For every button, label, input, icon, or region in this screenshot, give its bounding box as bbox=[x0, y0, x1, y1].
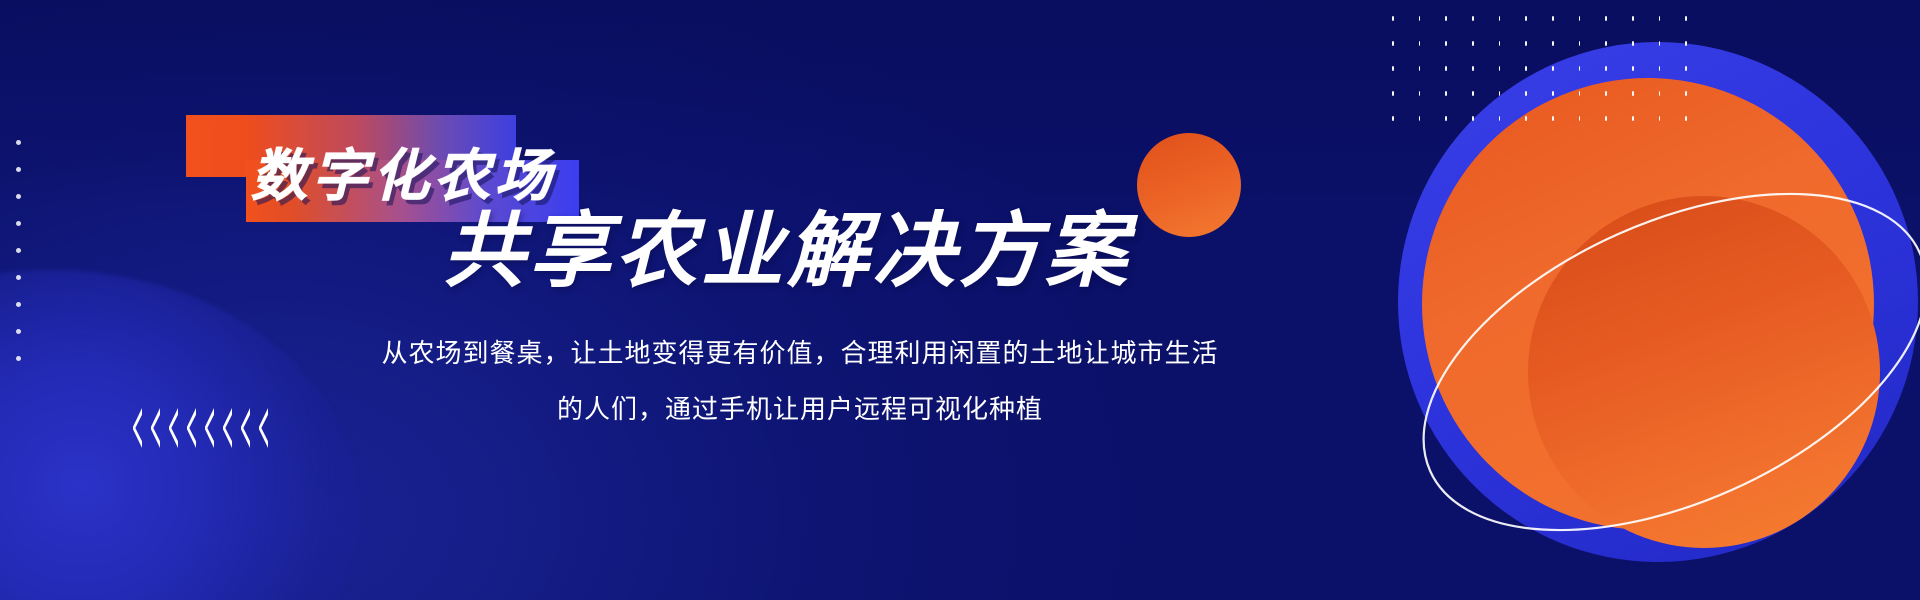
dot-grid-decoration bbox=[1392, 14, 1712, 134]
dot-icon bbox=[1659, 116, 1661, 121]
dot-grid-row bbox=[1392, 14, 1712, 39]
orange-circle-small-decoration bbox=[1137, 133, 1241, 237]
dot-icon bbox=[1579, 41, 1581, 46]
dot-icon bbox=[1472, 16, 1474, 21]
chevron-left-icon bbox=[205, 408, 214, 448]
dot-icon bbox=[1472, 66, 1474, 71]
dot-icon bbox=[1552, 41, 1554, 46]
dot-icon bbox=[1632, 41, 1634, 46]
dot-icon bbox=[1552, 91, 1554, 96]
dot-icon bbox=[16, 275, 21, 280]
dot-icon bbox=[1499, 91, 1501, 96]
dot-icon bbox=[1685, 91, 1687, 96]
dot-grid-row bbox=[1392, 64, 1712, 89]
dot-icon bbox=[1525, 41, 1527, 46]
dot-icon bbox=[1605, 41, 1607, 46]
dot-grid-row bbox=[1392, 89, 1712, 114]
dot-icon bbox=[16, 194, 21, 199]
dot-icon bbox=[1392, 41, 1394, 46]
dot-icon bbox=[1605, 66, 1607, 71]
dot-icon bbox=[1445, 41, 1447, 46]
dot-icon bbox=[1659, 41, 1661, 46]
dot-icon bbox=[1632, 91, 1634, 96]
dot-icon bbox=[1392, 66, 1394, 71]
dot-icon bbox=[16, 248, 21, 253]
dot-icon bbox=[1392, 16, 1394, 21]
dot-icon bbox=[1552, 116, 1554, 121]
dot-icon bbox=[1525, 16, 1527, 21]
dot-icon bbox=[1579, 16, 1581, 21]
dot-icon bbox=[1445, 16, 1447, 21]
chevron-left-icon bbox=[133, 408, 142, 448]
dot-icon bbox=[1499, 16, 1501, 21]
dot-icon bbox=[1685, 66, 1687, 71]
dot-icon bbox=[1605, 16, 1607, 21]
dot-icon bbox=[1525, 91, 1527, 96]
dot-icon bbox=[1525, 66, 1527, 71]
dot-icon bbox=[1605, 116, 1607, 121]
dot-icon bbox=[1579, 91, 1581, 96]
chevron-left-icon bbox=[151, 408, 160, 448]
dot-icon bbox=[1419, 91, 1421, 96]
dot-icon bbox=[1605, 91, 1607, 96]
dot-grid-row bbox=[1392, 39, 1712, 64]
dot-icon bbox=[1685, 41, 1687, 46]
dot-icon bbox=[1392, 91, 1394, 96]
left-dot-column-decoration bbox=[16, 140, 24, 383]
dot-icon bbox=[1632, 116, 1634, 121]
dot-icon bbox=[1552, 66, 1554, 71]
dot-icon bbox=[1632, 66, 1634, 71]
dot-icon bbox=[1659, 91, 1661, 96]
dot-icon bbox=[1445, 116, 1447, 121]
dot-icon bbox=[1419, 16, 1421, 21]
chevron-left-icon bbox=[223, 408, 232, 448]
orange-circle-medium-decoration bbox=[1528, 196, 1880, 548]
dot-icon bbox=[1632, 16, 1634, 21]
chevron-arrows-decoration bbox=[133, 408, 277, 448]
dot-grid-row bbox=[1392, 114, 1712, 139]
dot-icon bbox=[1579, 66, 1581, 71]
dot-icon bbox=[16, 329, 21, 334]
dot-icon bbox=[1659, 16, 1661, 21]
dot-icon bbox=[16, 167, 21, 172]
subtitle-line-1: 从农场到餐桌，让土地变得更有价值，合理利用闲置的土地让城市生活 bbox=[300, 325, 1300, 381]
dot-icon bbox=[1499, 116, 1501, 121]
chevron-left-icon bbox=[169, 408, 178, 448]
dot-icon bbox=[1419, 66, 1421, 71]
dot-icon bbox=[1419, 116, 1421, 121]
page-title: 共享农业解决方案 bbox=[443, 200, 1131, 304]
dot-icon bbox=[1685, 16, 1687, 21]
dot-icon bbox=[16, 302, 21, 307]
dot-icon bbox=[1445, 66, 1447, 71]
dot-icon bbox=[16, 140, 21, 145]
dot-icon bbox=[1472, 116, 1474, 121]
dot-icon bbox=[16, 221, 21, 226]
dot-icon bbox=[1579, 116, 1581, 121]
dot-icon bbox=[1685, 116, 1687, 121]
subtitle-block: 从农场到餐桌，让土地变得更有价值，合理利用闲置的土地让城市生活 的人们，通过手机… bbox=[300, 325, 1300, 437]
dot-icon bbox=[1445, 91, 1447, 96]
dot-icon bbox=[1499, 66, 1501, 71]
chevron-left-icon bbox=[259, 408, 268, 448]
dot-icon bbox=[1419, 41, 1421, 46]
dot-icon bbox=[1525, 116, 1527, 121]
dot-icon bbox=[16, 356, 21, 361]
dot-icon bbox=[1472, 91, 1474, 96]
dot-icon bbox=[1659, 66, 1661, 71]
dot-icon bbox=[1499, 41, 1501, 46]
subtitle-line-2: 的人们，通过手机让用户远程可视化种植 bbox=[300, 381, 1300, 437]
hero-banner: 数字化农场 共享农业解决方案 从农场到餐桌，让土地变得更有价值，合理利用闲置的土… bbox=[0, 0, 1920, 600]
chevron-left-icon bbox=[241, 408, 250, 448]
dot-icon bbox=[1472, 41, 1474, 46]
dot-icon bbox=[1552, 16, 1554, 21]
chevron-left-icon bbox=[187, 408, 196, 448]
dot-icon bbox=[1392, 116, 1394, 121]
